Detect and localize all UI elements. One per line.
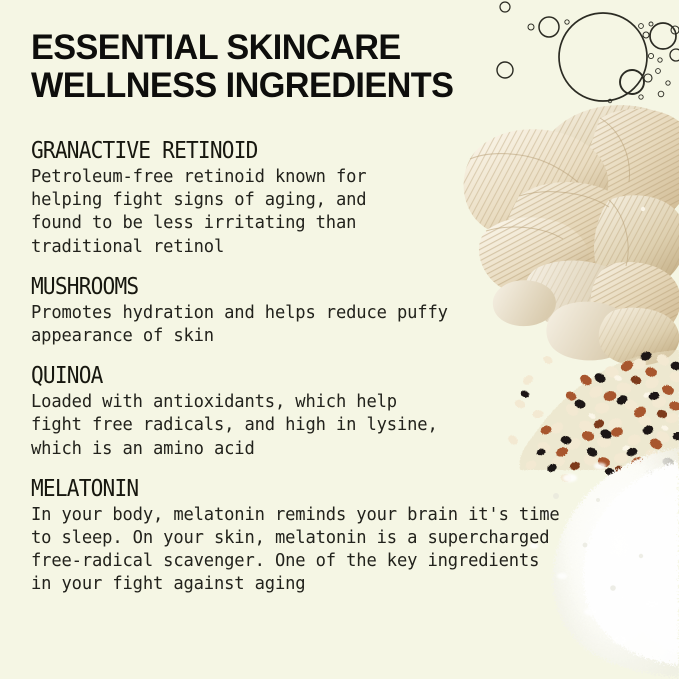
ingredient-section-granactive-retinoid: GRANACTIVE RETINOID Petroleum-free retin… bbox=[31, 137, 657, 259]
ingredient-body-mushrooms: Promotes hydration and helps reduce puff… bbox=[31, 302, 648, 348]
ingredient-body-quinoa: Loaded with antioxidants, which help fig… bbox=[31, 391, 648, 461]
ingredient-heading-quinoa: QUINOA bbox=[31, 362, 594, 388]
ingredient-heading-mushrooms: MUSHROOMS bbox=[31, 273, 594, 299]
ingredient-list: GRANACTIVE RETINOID Petroleum-free retin… bbox=[31, 137, 657, 611]
ingredient-section-quinoa: QUINOA Loaded with antioxidants, which h… bbox=[31, 362, 657, 461]
ingredient-section-melatonin: MELATONIN In your body, melatonin remind… bbox=[31, 475, 657, 597]
ingredient-heading-melatonin: MELATONIN bbox=[31, 475, 594, 501]
page-title: ESSENTIAL SKINCARE WELLNESS INGREDIENTS bbox=[31, 28, 533, 104]
ingredient-body-melatonin: In your body, melatonin reminds your bra… bbox=[31, 504, 648, 597]
content-layer: ESSENTIAL SKINCARE WELLNESS INGREDIENTS … bbox=[0, 0, 679, 679]
ingredient-heading-granactive-retinoid: GRANACTIVE RETINOID bbox=[31, 137, 594, 163]
ingredient-section-mushrooms: MUSHROOMS Promotes hydration and helps r… bbox=[31, 273, 657, 348]
ingredient-body-granactive-retinoid: Petroleum-free retinoid known for helpin… bbox=[31, 166, 648, 259]
